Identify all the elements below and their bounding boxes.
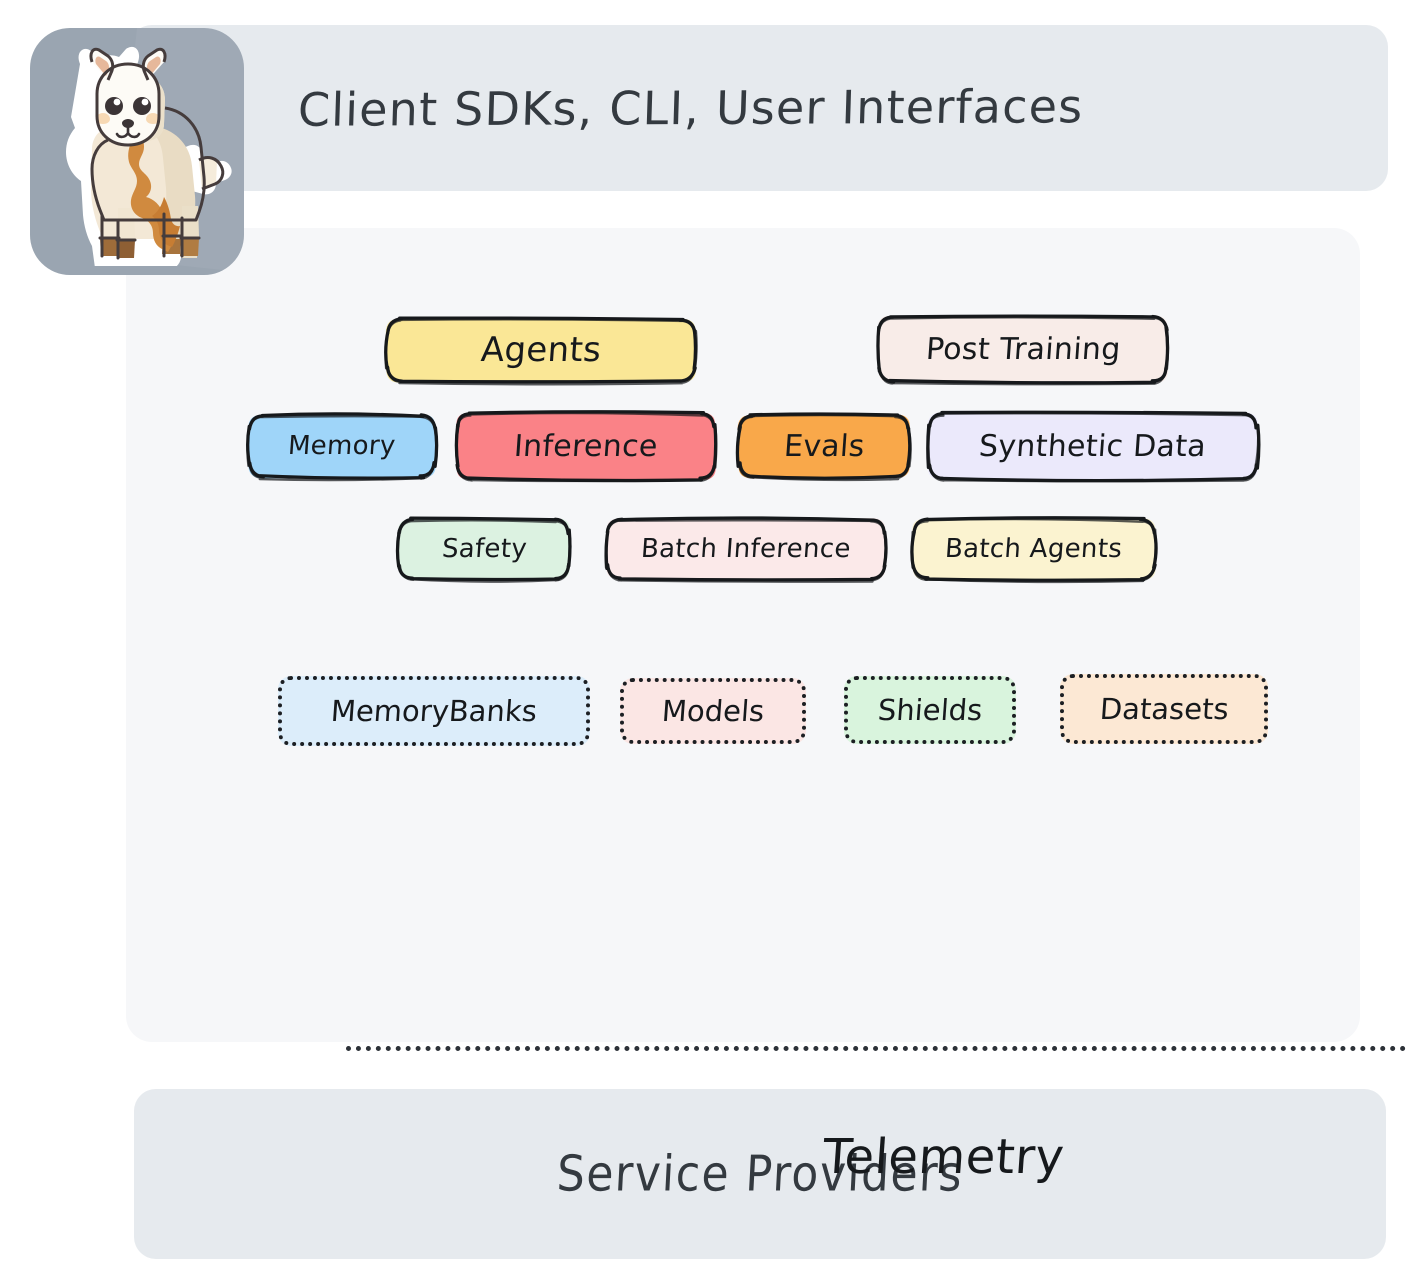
api-box-memory[interactable]: Memory [248, 414, 436, 478]
api-box-safety[interactable]: Safety [398, 518, 570, 580]
api-box-post-training[interactable]: Post Training [878, 315, 1168, 383]
resource-box-models[interactable]: Models [620, 678, 806, 744]
telemetry-label: Telemetry [821, 1129, 1066, 1185]
api-box-inference[interactable]: Inference [456, 412, 716, 480]
layer-divider [346, 1046, 1410, 1051]
resource-box-datasets-label: Datasets [1098, 692, 1229, 726]
resource-box-memorybanks[interactable]: MemoryBanks [278, 676, 590, 746]
api-box-synthetic-data[interactable]: Synthetic Data [928, 412, 1258, 480]
api-box-memory-label: Memory [287, 431, 397, 461]
api-box-post-training-label: Post Training [924, 332, 1121, 367]
llama-logo-tile [30, 28, 244, 275]
api-layer-panel: AgentsPost TrainingMemoryInferenceEvalsS… [126, 228, 1360, 1042]
api-box-inference-label: Inference [513, 429, 659, 464]
api-box-evals[interactable]: Evals [738, 414, 910, 478]
api-box-batch-agents[interactable]: Batch Agents [912, 518, 1156, 580]
resource-box-memorybanks-label: MemoryBanks [330, 694, 538, 728]
api-box-agents[interactable]: Agents [386, 318, 696, 382]
api-box-batch-inference[interactable]: Batch Inference [606, 518, 886, 580]
api-box-batch-agents-label: Batch Agents [944, 534, 1123, 564]
api-box-safety-label: Safety [440, 534, 527, 564]
api-box-agents-label: Agents [480, 330, 603, 370]
resource-box-datasets[interactable]: Datasets [1060, 674, 1268, 744]
llama-stack-architecture-diagram: Client SDKs, CLI, User Interfaces [0, 0, 1410, 1268]
client-layer-band: Client SDKs, CLI, User Interfaces [130, 25, 1388, 191]
api-box-evals-label: Evals [782, 429, 865, 464]
service-providers-band: Service Providers [134, 1089, 1386, 1259]
api-box-batch-inference-label: Batch Inference [640, 534, 852, 564]
llama-sticker-icon [36, 40, 238, 266]
resource-box-shields[interactable]: Shields [844, 676, 1016, 744]
api-box-synthetic-data-label: Synthetic Data [978, 429, 1207, 464]
client-layer-title: Client SDKs, CLI, User Interfaces [297, 79, 1084, 136]
resource-box-shields-label: Shields [877, 693, 984, 727]
resource-box-models-label: Models [661, 694, 766, 728]
